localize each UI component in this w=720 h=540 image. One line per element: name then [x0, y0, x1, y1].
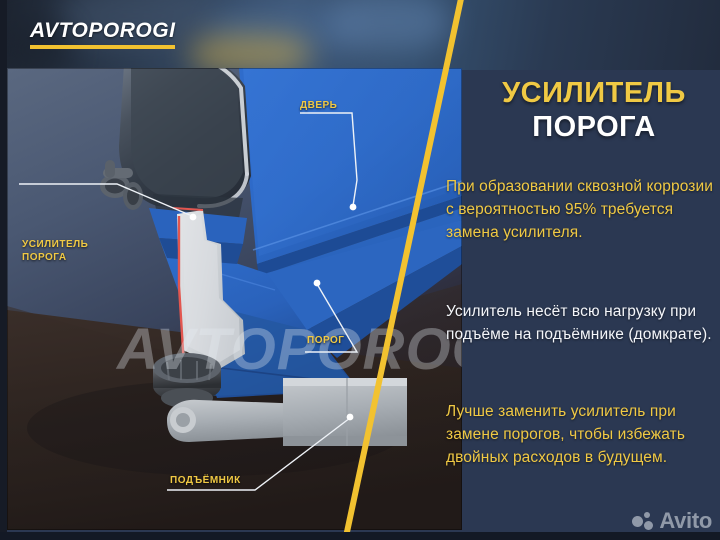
left-edge-bar — [0, 0, 7, 540]
callout-label-reinforcer-line1: УСИЛИТЕЛЬ — [22, 238, 88, 251]
bottom-edge-bar — [0, 532, 720, 540]
brand-logo-underline — [30, 45, 175, 49]
callout-label-reinforcer-line2: ПОРОГА — [22, 251, 88, 264]
paragraph-advice: Лучше заменить усилитель при замене поро… — [446, 400, 714, 469]
page-title-line1: УСИЛИТЕЛЬ — [468, 76, 720, 110]
callout-label-sill: ПОРОГ — [307, 335, 344, 347]
paragraph-load: Усилитель несёт всю нагрузку при подъёме… — [446, 300, 714, 346]
paragraph-corrosion: При образовании сквозной коррозии с веро… — [446, 175, 714, 244]
callout-label-jack: ПОДЪЁМНИК — [170, 475, 241, 487]
ad-image: AVTOPOROGI — [0, 0, 720, 540]
page-title: УСИЛИТЕЛЬ ПОРОГА — [468, 76, 720, 144]
header-blur-blob — [190, 34, 310, 70]
brand-logo-text: AVTOPOROGI — [30, 20, 175, 41]
brand-logo: AVTOPOROGI — [30, 20, 175, 49]
jack-puck — [153, 353, 221, 408]
callout-label-reinforcer: УСИЛИТЕЛЬ ПОРОГА — [22, 238, 88, 264]
content-column: УСИЛИТЕЛЬ ПОРОГА При образовании сквозно… — [470, 0, 720, 540]
page-title-line2: ПОРОГА — [468, 110, 720, 144]
avito-wordmark: Avito — [659, 510, 712, 532]
avito-watermark: Avito — [632, 510, 712, 532]
header-blur-blob — [330, 0, 450, 50]
car-sill-illustration — [7, 68, 462, 530]
illustration-panel: AVTOPOROGI — [7, 68, 462, 530]
avito-logo-icon — [632, 512, 654, 530]
callout-label-door: ДВЕРЬ — [300, 100, 337, 112]
